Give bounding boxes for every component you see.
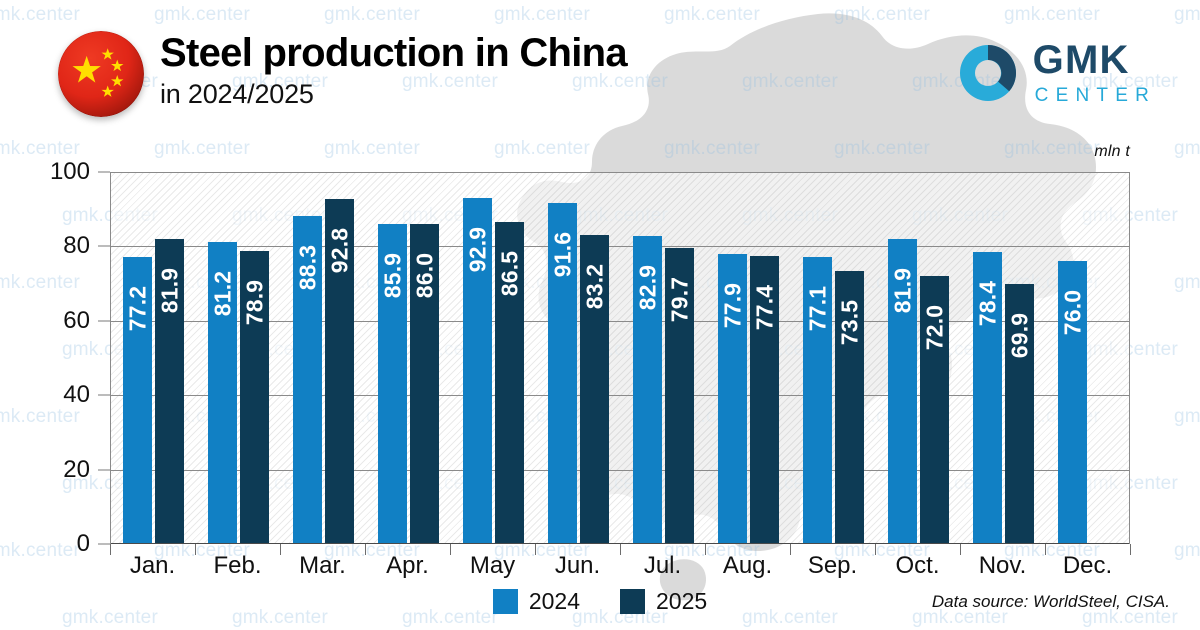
y-axis-tick-label: 0 (77, 530, 90, 558)
bar-value-label: 69.9 (1008, 313, 1031, 359)
bar-group: 78.469.9 (961, 172, 1046, 544)
x-axis-label-Nov: Nov. (979, 552, 1027, 580)
x-axis-label-Sep: Sep. (808, 552, 857, 580)
china-flag-icon (58, 31, 144, 117)
bar-2025-Mar[interactable]: 92.8 (325, 199, 354, 544)
bar-value-label: 86.5 (498, 251, 521, 297)
x-axis-label-Jun: Jun. (555, 552, 600, 580)
x-axis-label-Jul: Jul. (644, 552, 681, 580)
x-axis-label-Aug: Aug. (723, 552, 772, 580)
legend-label: 2024 (529, 588, 580, 615)
bar-2025-Sep[interactable]: 73.5 (835, 271, 864, 544)
x-axis-label-Apr: Apr. (386, 552, 429, 580)
bar-2025-Jun[interactable]: 83.2 (580, 235, 609, 545)
bar-2025-Apr[interactable]: 86.0 (410, 224, 439, 544)
bar-2025-Jul[interactable]: 79.7 (665, 248, 694, 544)
bar-value-label: 83.2 (583, 263, 606, 309)
bar-value-label: 82.9 (636, 264, 659, 310)
page-title: Steel production in China (160, 32, 627, 75)
source-note: Data source: WorldSteel, CISA. (932, 592, 1170, 612)
bar-2024-Nov[interactable]: 78.4 (973, 252, 1002, 544)
title-block: Steel production in China in 2024/2025 (160, 32, 627, 111)
bar-value-label: 88.3 (296, 244, 319, 290)
bar-group: 82.979.7 (621, 172, 706, 544)
y-axis-tick-label: 20 (63, 456, 90, 484)
bars-layer: 77.281.981.278.988.392.885.986.092.986.5… (111, 172, 1129, 544)
y-axis: 020406080100 (0, 172, 104, 544)
bar-value-label: 77.2 (126, 286, 149, 332)
bar-2024-Mar[interactable]: 88.3 (293, 216, 322, 544)
y-axis-tick-mark (98, 395, 110, 396)
bar-2024-Jan[interactable]: 77.2 (123, 257, 152, 544)
bar-group: 91.683.2 (536, 172, 621, 544)
bar-value-label: 81.9 (891, 268, 914, 314)
bar-value-label: 86.0 (413, 253, 436, 299)
logo-name: GMK (1033, 40, 1156, 80)
infographic-root: gmk.centergmk.centergmk.centergmk.center… (0, 0, 1200, 630)
y-axis-tick-label: 40 (63, 381, 90, 409)
bar-value-label: 92.8 (328, 228, 351, 274)
x-axis-label-Feb: Feb. (213, 552, 261, 580)
y-axis-tick-label: 60 (63, 307, 90, 335)
x-axis-label-Oct: Oct. (895, 552, 939, 580)
y-axis-tick-mark (98, 172, 110, 173)
bar-value-label: 81.9 (158, 268, 181, 314)
bar-2024-Jul[interactable]: 82.9 (633, 236, 662, 544)
x-axis-label-Dec: Dec. (1063, 552, 1112, 580)
bar-2024-Dec[interactable]: 76.0 (1058, 261, 1087, 544)
bar-group: 85.986.0 (366, 172, 451, 544)
bar-2024-Sep[interactable]: 77.1 (803, 257, 832, 544)
bar-value-label: 78.9 (243, 279, 266, 325)
bar-2024-Feb[interactable]: 81.2 (208, 242, 237, 544)
bar-value-label: 77.1 (806, 286, 829, 332)
y-axis-tick-mark (98, 246, 110, 247)
y-axis-tick-label: 100 (50, 158, 90, 186)
y-axis-tick-label: 80 (63, 232, 90, 260)
bar-2024-May[interactable]: 92.9 (463, 198, 492, 544)
bar-2025-Feb[interactable]: 78.9 (240, 251, 269, 545)
bar-group: 81.972.0 (876, 172, 961, 544)
y-axis-tick-mark (98, 320, 110, 321)
logo-text: GMK CENTER (1033, 40, 1156, 105)
bar-value-label: 72.0 (923, 305, 946, 351)
bar-2025-Aug[interactable]: 77.4 (750, 256, 779, 544)
bar-2025-Nov[interactable]: 69.9 (1005, 284, 1034, 544)
bar-value-label: 78.4 (976, 281, 999, 327)
bar-group: 76.0 (1046, 172, 1131, 544)
bar-2025-May[interactable]: 86.5 (495, 222, 524, 544)
x-axis-tick-mark (1130, 544, 1131, 555)
legend-swatch (493, 589, 518, 614)
gmk-donut-icon (958, 43, 1018, 103)
page-subtitle: in 2024/2025 (160, 79, 627, 111)
bar-value-label: 85.9 (381, 253, 404, 299)
bar-2024-Aug[interactable]: 77.9 (718, 254, 747, 544)
bar-2025-Oct[interactable]: 72.0 (920, 276, 949, 544)
logo-tagline: CENTER (1035, 86, 1156, 105)
header: Steel production in China in 2024/2025 G… (0, 0, 1200, 150)
bar-group: 77.977.4 (706, 172, 791, 544)
plot-area: 77.281.981.278.988.392.885.986.092.986.5… (110, 172, 1130, 544)
gmk-center-logo[interactable]: GMK CENTER (958, 40, 1156, 105)
y-axis-tick-mark (98, 469, 110, 470)
bar-value-label: 92.9 (466, 227, 489, 273)
y-axis-tick-mark (98, 544, 110, 545)
bar-2024-Jun[interactable]: 91.6 (548, 203, 577, 544)
bar-group: 81.278.9 (196, 172, 281, 544)
x-axis-label-Mar: Mar. (299, 552, 346, 580)
bar-2025-Jan[interactable]: 81.9 (155, 239, 184, 544)
bar-value-label: 77.9 (721, 283, 744, 329)
x-axis-label-Jan: Jan. (130, 552, 175, 580)
bar-value-label: 81.2 (211, 271, 234, 317)
bar-2024-Apr[interactable]: 85.9 (378, 224, 407, 544)
x-axis-label-May: May (470, 552, 515, 580)
bar-group: 88.392.8 (281, 172, 366, 544)
bar-group: 77.281.9 (111, 172, 196, 544)
bar-value-label: 77.4 (753, 285, 776, 331)
bar-value-label: 73.5 (838, 299, 861, 345)
x-axis-labels: Jan.Feb.Mar.Apr.MayJun.Jul.Aug.Sep.Oct.N… (110, 552, 1130, 586)
bar-2024-Oct[interactable]: 81.9 (888, 239, 917, 544)
legend-label: 2025 (656, 588, 707, 615)
legend-item-2024[interactable]: 2024 (493, 588, 580, 615)
bar-group: 92.986.5 (451, 172, 536, 544)
bar-value-label: 91.6 (551, 232, 574, 278)
bar-group: 77.173.5 (791, 172, 876, 544)
legend-swatch (620, 589, 645, 614)
bar-value-label: 79.7 (668, 276, 691, 322)
bar-value-label: 76.0 (1061, 290, 1084, 336)
legend-item-2025[interactable]: 2025 (620, 588, 707, 615)
